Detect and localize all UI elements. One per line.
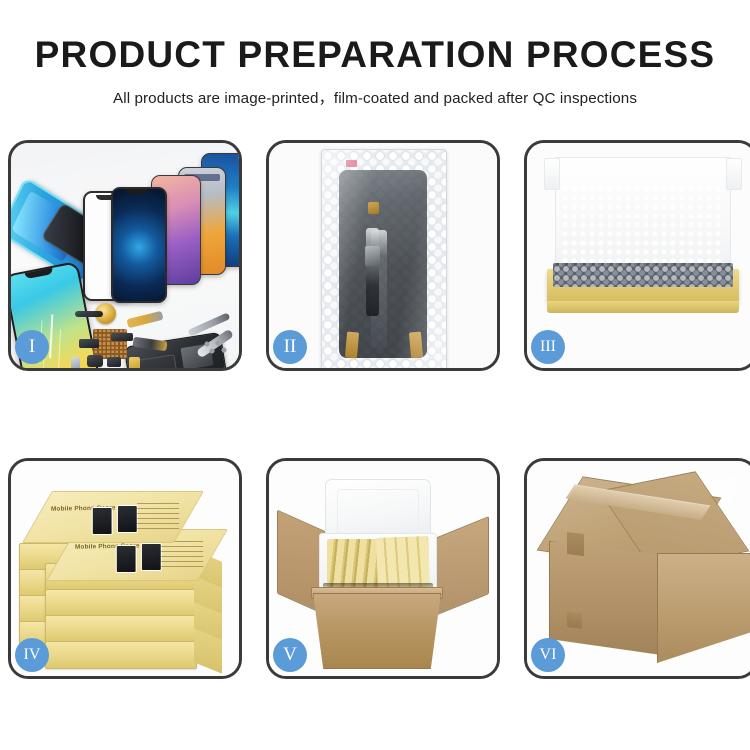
header: PRODUCT PREPARATION PROCESS All products…: [0, 0, 750, 108]
lcd-driver-chip-icon: [365, 246, 380, 266]
camera-module-part-icon: [87, 355, 103, 367]
carton-body-icon: [313, 593, 441, 669]
process-step-panel-1[interactable]: I: [8, 140, 242, 371]
small-connector-part-icon: [79, 339, 99, 348]
lcd-gold-tab-right-icon: [409, 332, 423, 359]
process-step-panel-6[interactable]: VI: [524, 458, 750, 679]
box-spec-text-lines: [161, 539, 203, 567]
lcd-connector-icon: [368, 202, 379, 214]
screws-icon: [203, 340, 229, 354]
process-step-panel-5[interactable]: V: [266, 458, 500, 679]
sealed-carton-front-face: [549, 541, 661, 655]
page-title: PRODUCT PREPARATION PROCESS: [0, 0, 750, 75]
screen-crack-icon: [49, 314, 53, 358]
gold-connector-part-icon: [129, 357, 140, 368]
box-stack-icon: Mobile Phone Spare Parts Mobile Phone Sp…: [17, 477, 233, 667]
bubble-wrap-bag-icon: [321, 149, 447, 368]
box-product-photo-2: [141, 543, 162, 571]
lcd-flex-cable-icon: [366, 228, 379, 316]
bubble-wrapped-contents-icon: [553, 265, 733, 287]
step-badge-5: V: [273, 638, 307, 672]
page-subtitle: All products are image-printed，film-coat…: [0, 75, 750, 108]
step-badge-6: VI: [531, 638, 565, 672]
process-step-panel-2[interactable]: II: [266, 140, 500, 371]
vibrator-part-icon: [107, 357, 121, 367]
step-badge-1: I: [15, 330, 49, 364]
step-2-image: [269, 143, 497, 368]
antenna-strip-part-icon: [75, 311, 103, 317]
packed-yellow-boxes-secondary-icon: [376, 536, 430, 588]
yellow-box-front-edge-icon: [547, 301, 739, 313]
step-badge-2: II: [273, 330, 307, 364]
carton-tab-lower-icon: [567, 612, 582, 629]
process-step-panel-3[interactable]: III: [524, 140, 750, 371]
sim-tray-part-icon: [71, 357, 80, 368]
lcd-gold-tab-left-icon: [345, 332, 359, 359]
process-step-grid: I II: [8, 140, 742, 679]
step-badge-3: III: [531, 330, 565, 364]
stacked-box-edge: [45, 589, 197, 617]
blue-burst-phone-icon: [111, 187, 167, 303]
qc-sticker-icon: [346, 160, 357, 167]
earpiece-part-icon: [111, 333, 133, 341]
lcd-screen-icon: [339, 170, 427, 358]
battery-icon: [137, 354, 180, 368]
step-1-image: [11, 143, 239, 368]
box-product-photo-2: [117, 505, 138, 533]
printed-box-top-back: Mobile Phone Spare Parts: [22, 491, 204, 543]
stacked-box-edge: [45, 615, 197, 643]
product-preparation-infographic: PRODUCT PREPARATION PROCESS All products…: [0, 0, 750, 750]
carton-tab-upper-icon: [567, 532, 584, 556]
step-3-image: [527, 143, 750, 368]
stacked-box-edge: [45, 641, 197, 669]
box-product-photo-1: [92, 507, 113, 535]
foam-sheet-icon: [561, 185, 723, 267]
process-step-panel-4[interactable]: Mobile Phone Spare Parts Mobile Phone Sp…: [8, 458, 242, 679]
box-spec-text-lines: [137, 501, 179, 529]
step-badge-4: IV: [15, 638, 49, 672]
box-product-photo-1: [116, 545, 137, 573]
